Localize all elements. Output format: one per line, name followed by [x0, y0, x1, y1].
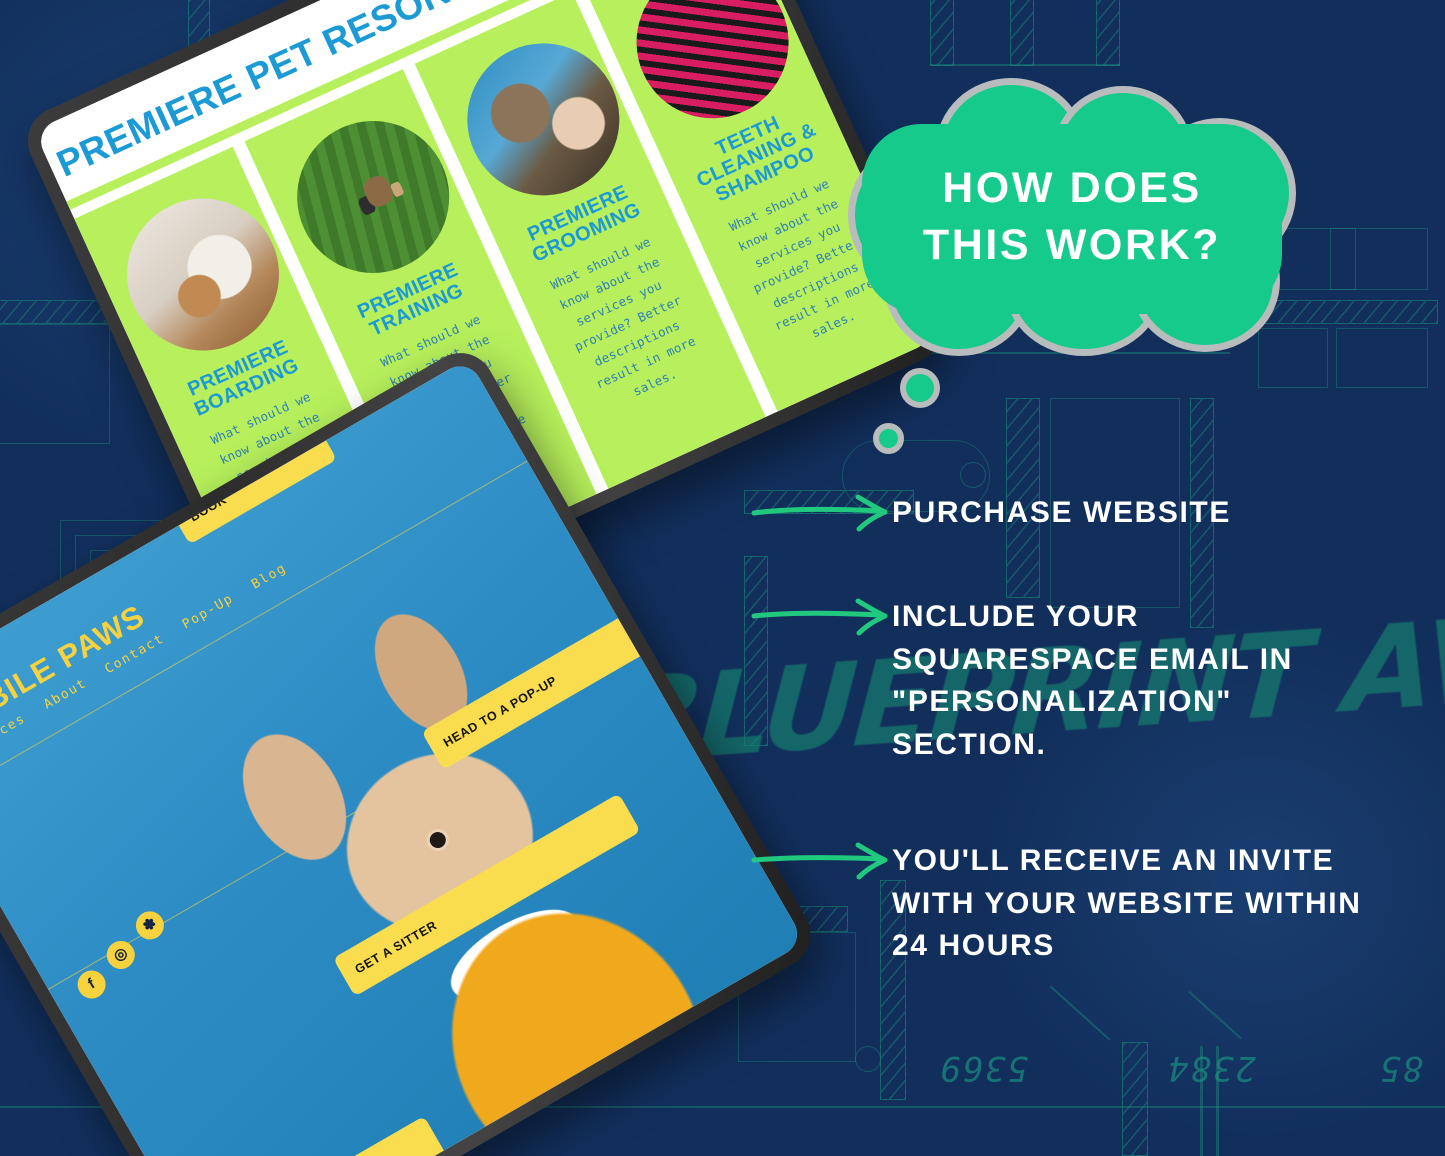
step-label: You'll receive an invite with your websi… — [892, 840, 1362, 968]
blueprint-number: 85 — [1378, 1048, 1423, 1088]
facebook-icon[interactable]: f — [73, 965, 111, 1003]
thought-dot-small — [873, 423, 904, 454]
blueprint-number: 5369 — [938, 1048, 1028, 1088]
bubble-text: How Does This Work? — [848, 78, 1296, 356]
step-label: Purchase Website — [892, 492, 1231, 535]
arrow-right-icon — [752, 600, 892, 634]
arrow-right-icon — [752, 844, 892, 878]
nav-item-popup[interactable]: Pop-Up — [180, 591, 236, 632]
step-include-email: Include your Squarespace email in "Perso… — [752, 596, 1362, 766]
thought-bubble: How Does This Work? — [848, 78, 1296, 356]
arrow-right-icon — [752, 496, 892, 530]
nav-item-blog[interactable]: Blog — [249, 561, 289, 593]
bubble-line-2: This Work? — [923, 224, 1221, 267]
step-purchase-website: Purchase Website — [752, 492, 1231, 535]
pinterest-icon[interactable]: ✽ — [131, 906, 169, 944]
thought-dot-large — [900, 368, 940, 408]
step-label: Include your Squarespace email in "Perso… — [892, 596, 1362, 766]
step-receive-invite: You'll receive an invite with your websi… — [752, 840, 1362, 968]
nav-item-services[interactable]: Services — [0, 711, 28, 762]
blueprint-number: 2384 — [1166, 1048, 1256, 1088]
poster-canvas: 5369 2384 85 BLUEPRINT AVENUE PREMIERE P… — [0, 0, 1445, 1156]
bubble-line-1: How Does — [942, 167, 1202, 210]
instagram-icon[interactable]: ◎ — [102, 936, 140, 974]
social-links[interactable]: f ◎ ✽ — [62, 906, 181, 1003]
